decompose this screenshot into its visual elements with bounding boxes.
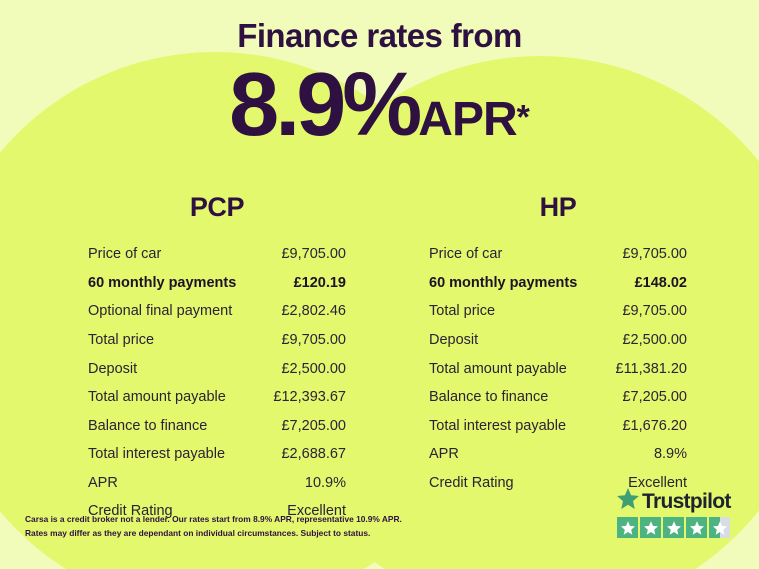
star-icon: [663, 517, 684, 538]
trustpilot-star-box: [640, 517, 661, 538]
column-title-pcp: PCP: [88, 192, 346, 223]
finance-row-value: £9,705.00: [622, 301, 687, 323]
finance-row-label: APR: [88, 473, 118, 495]
rate-number: 8.9%: [229, 55, 418, 155]
trustpilot-stars: [617, 517, 735, 538]
legal-disclaimer: Carsa is a credit broker not a lender. O…: [25, 513, 445, 540]
trustpilot-wordmark: Trustpilot: [642, 491, 731, 512]
finance-row-value: £7,205.00: [281, 416, 346, 438]
finance-row-value: £148.02: [635, 273, 687, 295]
trustpilot-logo: Trustpilot: [617, 489, 735, 513]
finance-row-value: £12,393.67: [273, 387, 346, 409]
finance-row-value: £9,705.00: [281, 244, 346, 266]
finance-row-value: 8.9%: [654, 444, 687, 466]
headline-block: Finance rates from 8.9%APR*: [0, 18, 759, 150]
finance-row-value: £2,802.46: [281, 301, 346, 323]
finance-row-value: £7,205.00: [622, 387, 687, 409]
finance-column-hp: HP Price of car£9,705.0060 monthly payme…: [379, 192, 758, 526]
finance-row-label: Total price: [429, 301, 495, 323]
rate-asterisk: *: [517, 99, 530, 137]
finance-row-label: Total amount payable: [88, 387, 226, 409]
page-title: Finance rates from: [0, 18, 759, 54]
star-icon: [640, 517, 661, 538]
finance-row: Deposit£2,500.00: [429, 327, 687, 356]
finance-row-value: £2,500.00: [622, 330, 687, 352]
finance-row: Optional final payment£2,802.46: [88, 298, 346, 327]
disclaimer-line-1: Carsa is a credit broker not a lender. O…: [25, 513, 445, 527]
finance-row: APR8.9%: [429, 441, 687, 470]
finance-row: Deposit£2,500.00: [88, 355, 346, 384]
finance-row: Balance to finance£7,205.00: [88, 412, 346, 441]
finance-rates-promo: Finance rates from 8.9%APR* PCP Price of…: [0, 0, 759, 569]
star-icon: [709, 517, 730, 538]
finance-row: Total interest payable£2,688.67: [88, 441, 346, 470]
trustpilot-star-box: [709, 517, 730, 538]
finance-row-value: £1,676.20: [622, 416, 687, 438]
finance-row: Price of car£9,705.00: [88, 241, 346, 270]
rate-suffix: APR: [418, 93, 516, 146]
finance-row: 60 monthly payments£148.02: [429, 270, 687, 299]
finance-row: Total price£9,705.00: [429, 298, 687, 327]
finance-row-value: 10.9%: [305, 473, 346, 495]
finance-row-label: Price of car: [88, 244, 161, 266]
trustpilot-star-box: [663, 517, 684, 538]
trustpilot-star-box: [686, 517, 707, 538]
finance-row: Price of car£9,705.00: [429, 241, 687, 270]
finance-column-pcp: PCP Price of car£9,705.0060 monthly paym…: [0, 192, 379, 526]
trustpilot-star-icon: [617, 488, 639, 514]
rows-pcp: Price of car£9,705.0060 monthly payments…: [88, 241, 346, 526]
star-icon: [617, 517, 638, 538]
finance-row-label: Deposit: [88, 359, 137, 381]
finance-row-label: Deposit: [429, 330, 478, 352]
headline-rate: 8.9%APR*: [0, 60, 759, 150]
finance-row-label: Total interest payable: [88, 444, 225, 466]
finance-row-label: Total amount payable: [429, 359, 567, 381]
finance-row-value: £2,688.67: [281, 444, 346, 466]
finance-row-label: Price of car: [429, 244, 502, 266]
finance-row-label: Balance to finance: [88, 416, 207, 438]
finance-row-label: Total price: [88, 330, 154, 352]
finance-row: Total interest payable£1,676.20: [429, 412, 687, 441]
disclaimer-line-2: Rates may differ as they are dependant o…: [25, 527, 445, 541]
trustpilot-rating[interactable]: Trustpilot: [617, 489, 735, 538]
finance-row-value: £9,705.00: [281, 330, 346, 352]
finance-row-value: £2,500.00: [281, 359, 346, 381]
finance-row-label: Credit Rating: [429, 473, 514, 495]
finance-row-label: 60 monthly payments: [88, 273, 236, 295]
column-title-hp: HP: [429, 192, 687, 223]
trustpilot-star-box: [617, 517, 638, 538]
star-icon: [686, 517, 707, 538]
finance-row-label: Balance to finance: [429, 387, 548, 409]
finance-row-label: APR: [429, 444, 459, 466]
rows-hp: Price of car£9,705.0060 monthly payments…: [429, 241, 687, 498]
finance-row: Total amount payable£12,393.67: [88, 384, 346, 413]
finance-comparison: PCP Price of car£9,705.0060 monthly paym…: [0, 192, 759, 526]
finance-row-value: £11,381.20: [616, 359, 688, 381]
finance-row-value: £9,705.00: [622, 244, 687, 266]
finance-row: APR10.9%: [88, 469, 346, 498]
finance-row: Total price£9,705.00: [88, 327, 346, 356]
finance-row-label: Total interest payable: [429, 416, 566, 438]
finance-row: Balance to finance£7,205.00: [429, 384, 687, 413]
finance-row: 60 monthly payments£120.19: [88, 270, 346, 299]
finance-row-label: 60 monthly payments: [429, 273, 577, 295]
finance-row-label: Optional final payment: [88, 301, 232, 323]
finance-row-value: £120.19: [294, 273, 346, 295]
finance-row: Total amount payable£11,381.20: [429, 355, 687, 384]
